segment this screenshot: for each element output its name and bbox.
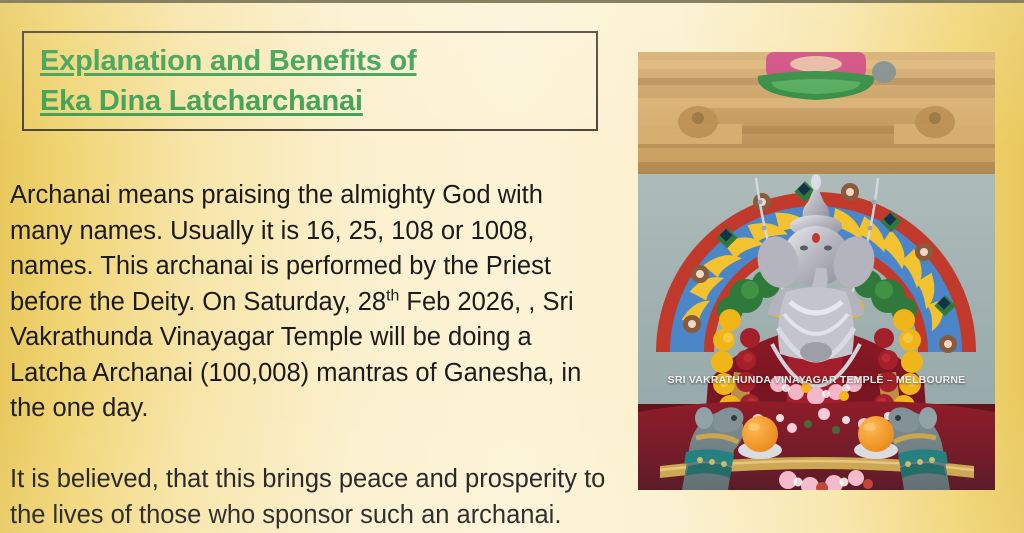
title-box: Explanation and Benefits of Eka Dina Lat… (22, 31, 598, 131)
page-title-line-2: Eka Dina Latcharchanai (40, 81, 596, 121)
body-text: Archanai means praising the almighty God… (10, 178, 610, 533)
temple-deity-illustration (638, 52, 995, 490)
presentation-slide: Explanation and Benefits of Eka Dina Lat… (0, 0, 1024, 533)
ordinal-superscript: th (386, 287, 399, 304)
page-title-line-1: Explanation and Benefits of (40, 41, 596, 81)
temple-deity-photo: SRI VAKRATHUNDA VINAYAGAR TEMPLE – MELBO… (638, 52, 995, 490)
body-paragraph-2: It is believed, that this brings peace a… (10, 462, 610, 533)
slide-top-rule (0, 0, 1024, 3)
stone-carving-band (638, 52, 995, 174)
paragraph-spacer (10, 427, 610, 463)
body-paragraph-1: Archanai means praising the almighty God… (10, 178, 610, 427)
